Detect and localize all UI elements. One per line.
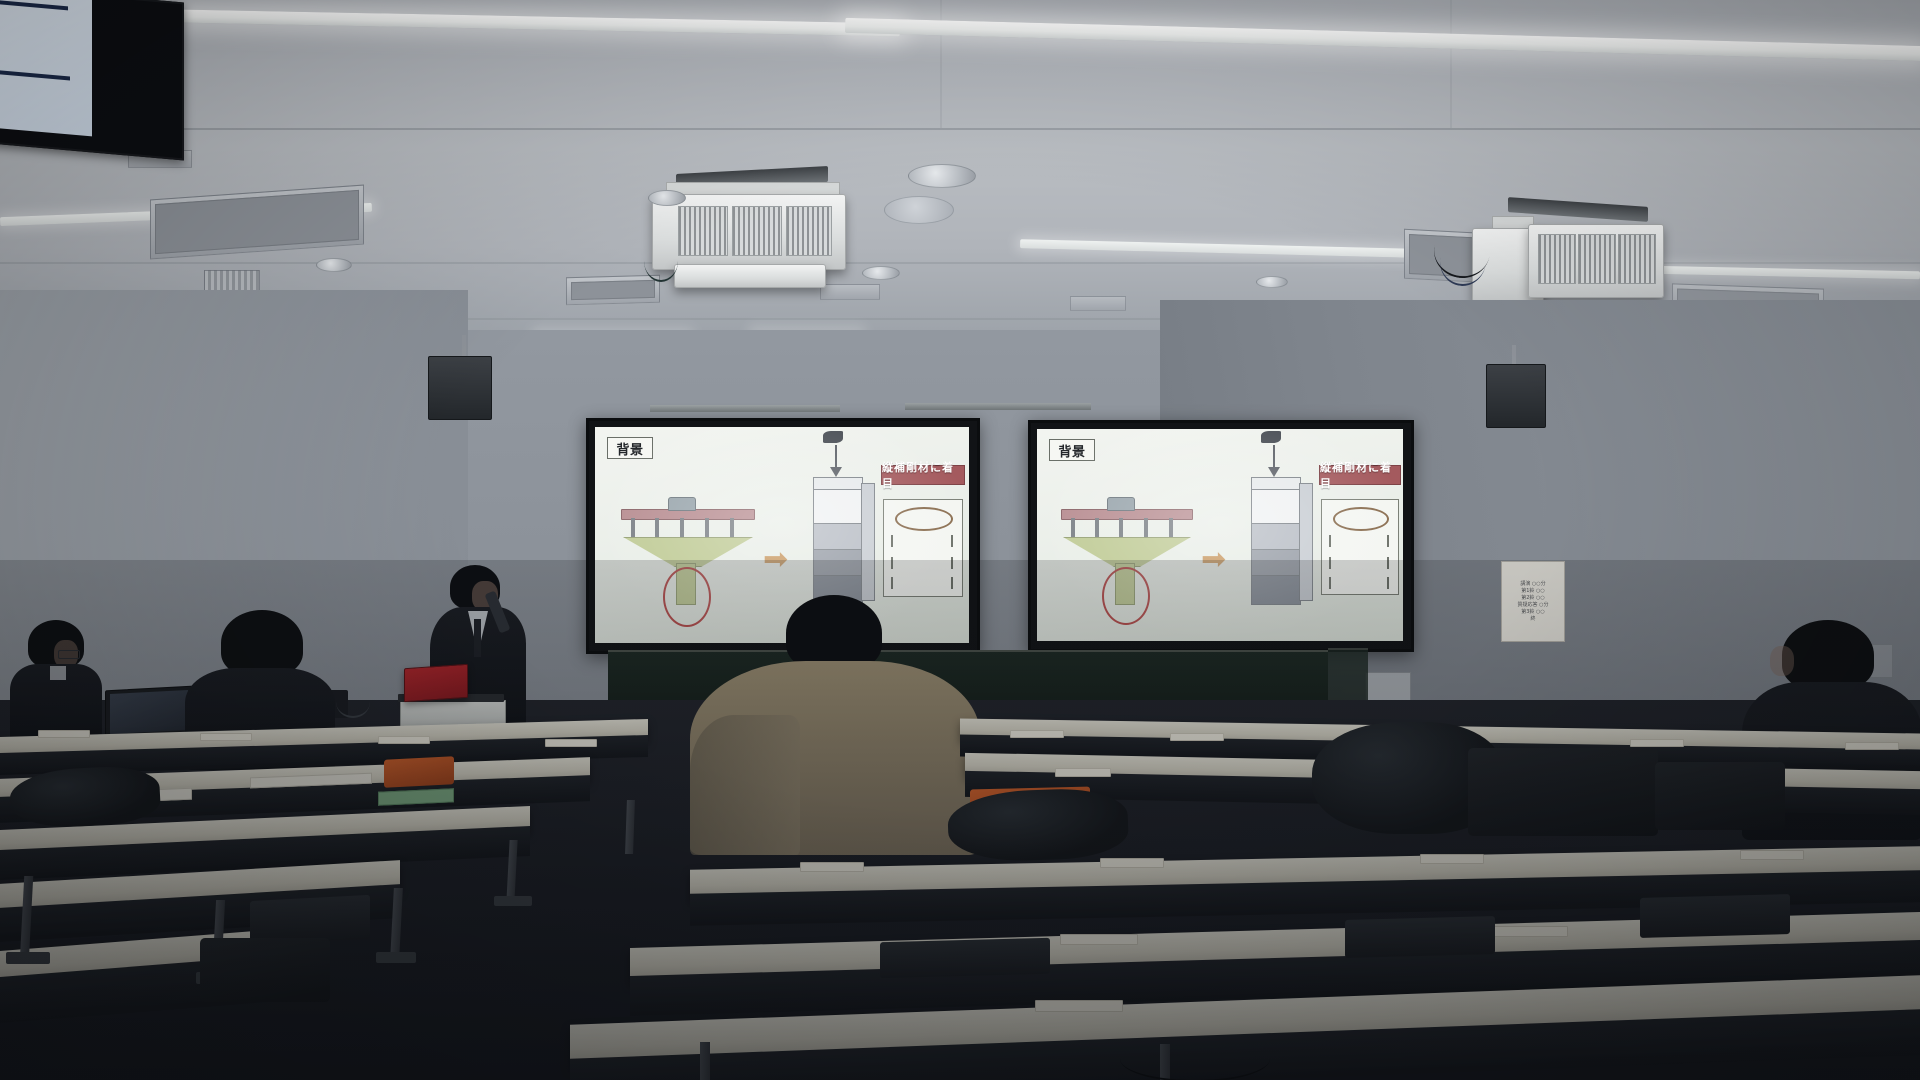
attendee-hair xyxy=(1782,620,1874,690)
sign-line: 質疑応答 ○分 xyxy=(1518,603,1549,608)
projector-vent-grille xyxy=(1578,234,1616,284)
desk-name-plate xyxy=(38,730,90,738)
ceiling-seam xyxy=(940,0,942,128)
stiffener-tick xyxy=(951,577,953,589)
specimen-column-seg3 xyxy=(1251,549,1301,577)
floor-cable xyxy=(1120,1036,1270,1080)
orange-bag[interactable] xyxy=(384,756,454,788)
bridge-stringer xyxy=(655,518,659,538)
red-laptop[interactable] xyxy=(404,664,468,702)
hand-icon xyxy=(1261,431,1281,443)
chair-back[interactable] xyxy=(880,938,1050,978)
attendee-hair xyxy=(221,610,303,676)
ceiling-projector-right xyxy=(1442,202,1664,314)
eyeglasses xyxy=(58,650,80,659)
vehicle-icon xyxy=(1107,497,1135,511)
projector-cable xyxy=(644,240,678,282)
desk-name-plate xyxy=(1170,733,1224,741)
wall-monitor-screen xyxy=(0,0,92,136)
desk-foot xyxy=(376,952,416,963)
chair-back[interactable] xyxy=(1640,894,1790,938)
ceiling-projector-left xyxy=(648,168,848,286)
desk-name-plate xyxy=(1845,742,1899,750)
specimen-column-seg4 xyxy=(1251,575,1301,605)
stiffener-tick xyxy=(1329,535,1331,547)
chair-back[interactable] xyxy=(1345,916,1495,958)
desk-foot xyxy=(494,896,532,906)
sign-line: 終 xyxy=(1530,617,1535,622)
bridge-stringer xyxy=(680,518,684,538)
stiffener-tick xyxy=(1387,535,1389,547)
smoke-detector-1 xyxy=(908,164,976,188)
specimen-column-side xyxy=(861,483,875,601)
specimen-column-seg1 xyxy=(813,489,863,525)
smoke-detector-4 xyxy=(862,266,900,280)
bridge-stringer xyxy=(1119,518,1123,538)
smoke-detector-2 xyxy=(884,196,954,224)
screen-header-rail-left xyxy=(650,405,840,412)
wall-notice-sign: 講演 ○○分 第1鈴 ○○ 第2鈴 ○○ 質疑応答 ○分 第3鈴 ○○ 終 xyxy=(1501,561,1565,642)
desk-foot xyxy=(6,952,50,964)
projector-vent-grille xyxy=(678,206,728,256)
backpack-right[interactable] xyxy=(1655,762,1785,830)
stiffener-tick xyxy=(951,557,953,569)
slide-title-box: 背景 xyxy=(1049,439,1095,461)
desk-name-plate xyxy=(1100,858,1164,868)
sign-line: 第2鈴 ○○ xyxy=(1521,596,1545,601)
stiffener-tick xyxy=(891,535,893,547)
bridge-stringer xyxy=(730,518,734,538)
load-arrow-shaft xyxy=(835,445,837,469)
smoke-detector-3 xyxy=(316,258,352,272)
stiffener-tick xyxy=(1387,577,1389,589)
desk-name-plate xyxy=(545,739,597,747)
slide-right: 背景 ➡ 縦補剛材に着目 xyxy=(1037,429,1403,641)
specimen-column-side xyxy=(1299,483,1313,601)
transition-arrow: ➡ xyxy=(763,545,788,575)
desk-name-plate xyxy=(378,736,430,744)
desk-name-plate xyxy=(1055,768,1111,777)
load-arrow-head xyxy=(1268,467,1280,477)
projection-screen-right-surface: 背景 ➡ 縦補剛材に着目 xyxy=(1037,429,1403,641)
wall-equipment-box xyxy=(1365,672,1411,702)
air-vent-small-center xyxy=(820,284,880,300)
desk-name-plate xyxy=(1630,739,1684,747)
transition-arrow: ➡ xyxy=(1201,545,1226,575)
attendee-collar xyxy=(50,666,66,680)
attendee-hair xyxy=(786,595,882,671)
desk-name-plate xyxy=(800,862,864,872)
ceiling-speaker-right xyxy=(1486,364,1546,428)
hand-icon xyxy=(823,431,843,443)
bag-left-front[interactable] xyxy=(200,938,330,1002)
desk-name-plate xyxy=(1010,730,1064,738)
wall-monitor-graphic xyxy=(0,0,68,10)
stiffener-tick xyxy=(891,577,893,589)
projector-vent-grille xyxy=(1538,234,1576,284)
ceiling-seam xyxy=(0,128,1920,130)
attendee-jacket-shadow xyxy=(690,715,800,855)
air-vent-small-right xyxy=(1070,296,1126,311)
bridge-stringer xyxy=(1071,518,1075,538)
highlight-ellipse-left xyxy=(1102,567,1150,625)
bridge-stringer xyxy=(631,518,635,538)
ceiling-speaker-left xyxy=(428,356,492,420)
mic-stand-loop xyxy=(336,686,370,718)
slide-title-box: 背景 xyxy=(607,437,653,459)
desk-leg xyxy=(700,1042,710,1080)
air-vent-grille xyxy=(571,280,655,300)
specimen-column-seg2 xyxy=(813,523,863,551)
stiffener-tick xyxy=(1329,577,1331,589)
slide-callout-label: 縦補剛材に着目 xyxy=(881,465,965,485)
specimen-column-seg1 xyxy=(1251,489,1301,525)
air-vent-center xyxy=(566,275,660,305)
desk-name-plate xyxy=(1060,934,1138,945)
wall-monitor-graphic xyxy=(0,70,70,80)
presenter-tie xyxy=(474,619,481,657)
stiffener-highlight-ellipse xyxy=(1333,507,1389,531)
bridge-stringer xyxy=(705,518,709,538)
projection-screen-right[interactable]: 背景 ➡ 縦補剛材に着目 xyxy=(1028,420,1414,652)
load-arrow-shaft xyxy=(1273,445,1275,469)
attendee-face xyxy=(1770,646,1794,676)
specimen-column-seg3 xyxy=(813,549,863,577)
stiffener-tick xyxy=(951,535,953,547)
desk-name-plate xyxy=(1490,926,1568,937)
stiffener-tick xyxy=(1329,557,1331,569)
projector-vent-grille xyxy=(732,206,782,256)
projector-lens xyxy=(648,190,686,206)
load-arrow-head xyxy=(830,467,842,477)
sign-line: 講演 ○○分 xyxy=(1520,582,1545,587)
stiffener-tick xyxy=(891,557,893,569)
bridge-stringer xyxy=(1144,518,1148,538)
wall-monitor xyxy=(0,0,184,160)
projector-vent-grille xyxy=(1618,234,1656,284)
vehicle-icon xyxy=(668,497,696,511)
dark-coat-right-2[interactable] xyxy=(1468,748,1658,836)
slide-callout-label: 縦補剛材に着目 xyxy=(1319,465,1401,485)
stiffener-highlight-ellipse xyxy=(895,507,953,531)
specimen-column-seg2 xyxy=(1251,523,1301,551)
desk-name-plate xyxy=(1035,1000,1123,1012)
desk-name-plate xyxy=(1420,854,1484,864)
sprinkler-head-1 xyxy=(1256,276,1288,288)
sign-line: 第1鈴 ○○ xyxy=(1521,589,1545,594)
desk-name-plate xyxy=(1740,850,1804,860)
projector-lower-housing xyxy=(674,264,826,288)
bridge-stringer xyxy=(1169,518,1173,538)
stiffener-tick xyxy=(1387,557,1389,569)
air-vent-grille xyxy=(155,190,359,254)
desk-name-plate xyxy=(200,733,252,741)
lecture-hall-scene: 講演 ○○分 第1鈴 ○○ 第2鈴 ○○ 質疑応答 ○分 第3鈴 ○○ 終 背景 xyxy=(0,0,1920,1080)
screen-header-rail-right xyxy=(905,403,1091,410)
attendee-center xyxy=(690,595,980,855)
control-laptop-screen xyxy=(110,690,188,734)
ceiling-seam xyxy=(1450,0,1452,128)
projector-vent-grille xyxy=(786,206,832,256)
sign-line: 第3鈴 ○○ xyxy=(1521,610,1545,615)
bridge-stringer xyxy=(1095,518,1099,538)
